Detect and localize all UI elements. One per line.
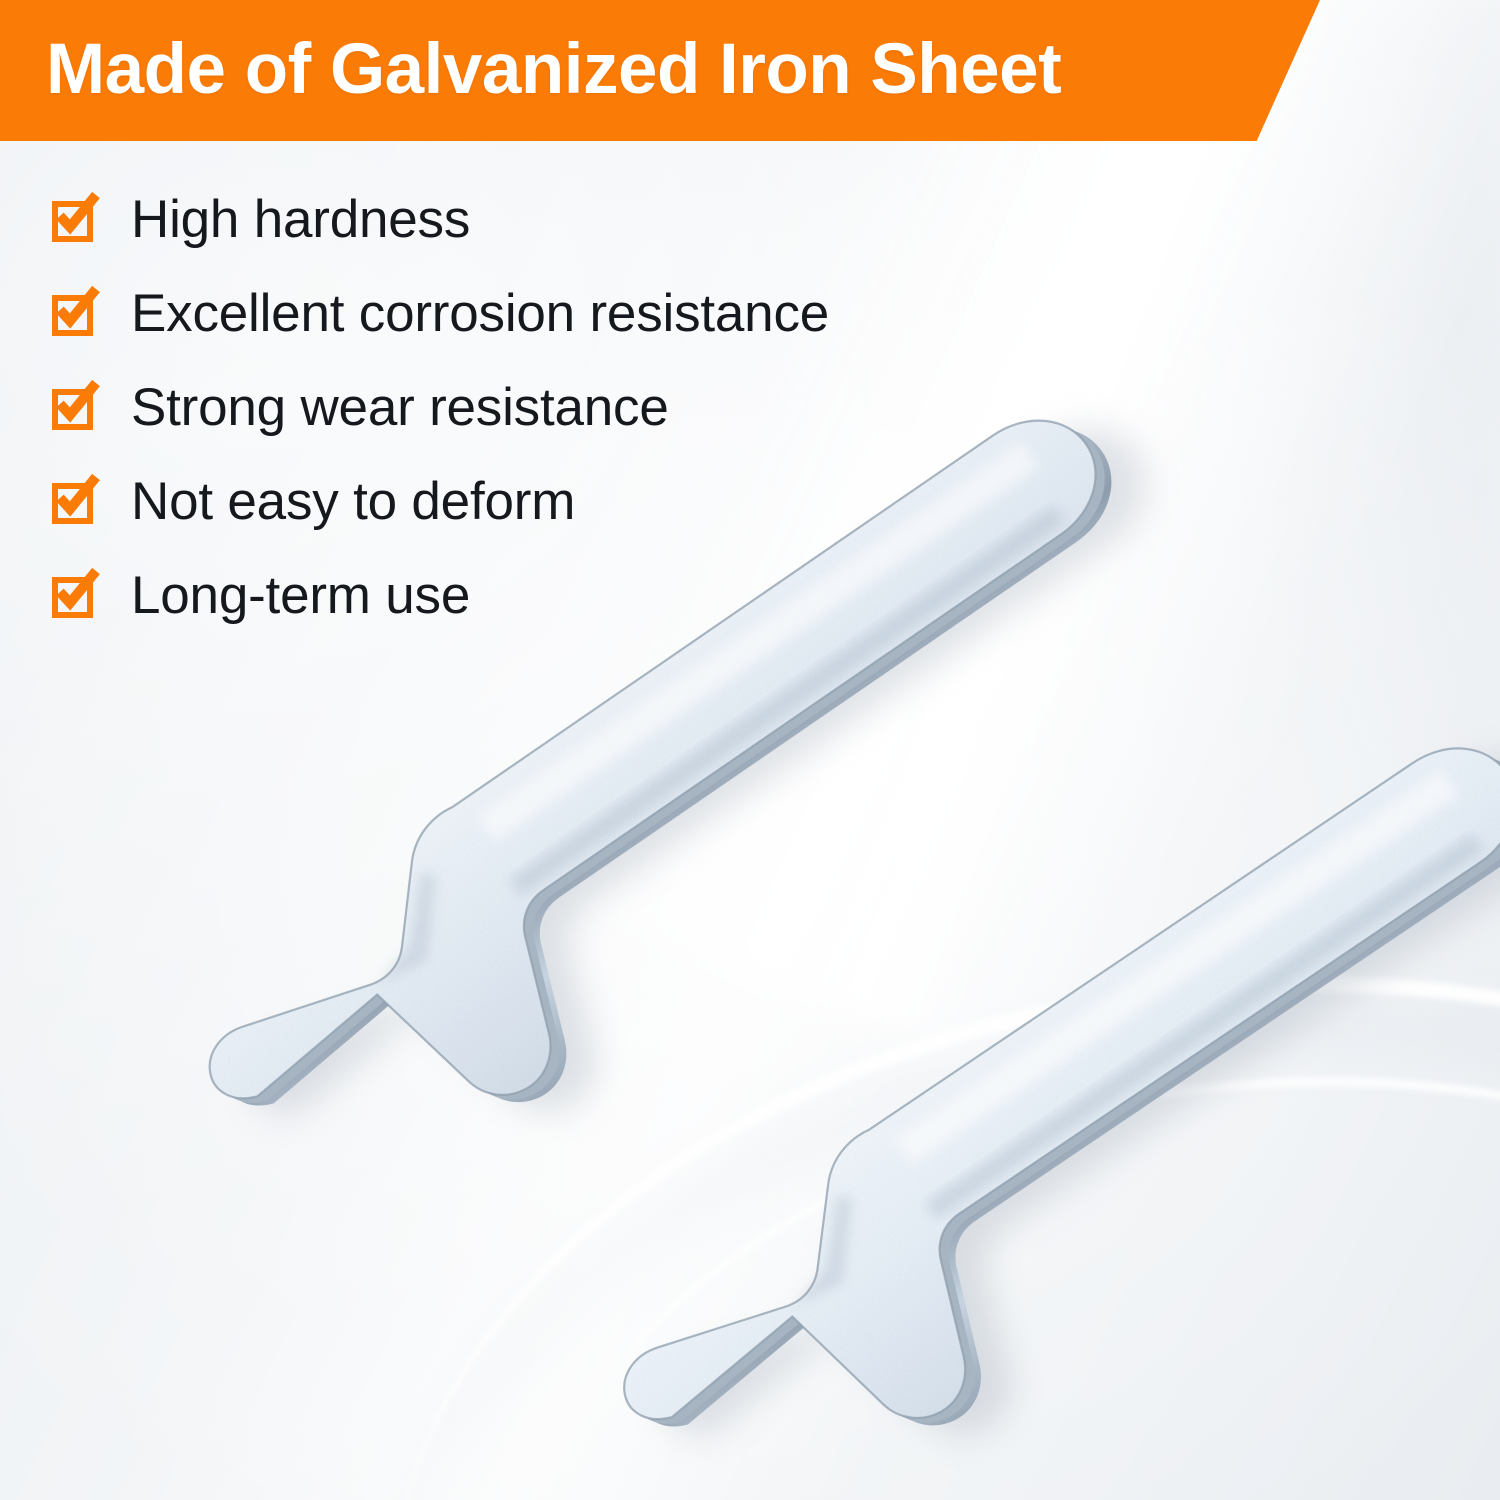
feature-label: Strong wear resistance bbox=[131, 381, 669, 434]
feature-item-4: Long-term use bbox=[50, 548, 829, 642]
page-title: Made of Galvanized Iron Sheet bbox=[46, 28, 1061, 109]
checkbox-checked-icon bbox=[50, 290, 96, 336]
checkbox-checked-icon bbox=[50, 196, 96, 242]
feature-label: Long-term use bbox=[131, 569, 470, 622]
checkbox-checked-icon bbox=[50, 572, 96, 618]
checkbox-checked-icon bbox=[50, 478, 96, 524]
feature-item-0: High hardness bbox=[50, 172, 829, 266]
feature-label: Excellent corrosion resistance bbox=[131, 287, 829, 340]
checkbox-checked-icon bbox=[50, 384, 96, 430]
feature-item-2: Strong wear resistance bbox=[50, 360, 829, 454]
feature-label: High hardness bbox=[131, 193, 470, 246]
feature-label: Not easy to deform bbox=[131, 475, 575, 528]
feature-item-3: Not easy to deform bbox=[50, 454, 829, 548]
header-banner: Made of Galvanized Iron Sheet bbox=[0, 0, 1320, 141]
product-feature-panel: Made of Galvanized Iron Sheet High hardn… bbox=[0, 0, 1500, 1500]
wrench-lower bbox=[576, 717, 1500, 1500]
feature-item-1: Excellent corrosion resistance bbox=[50, 266, 829, 360]
feature-list: High hardness Excellent corrosion resist… bbox=[50, 172, 829, 642]
